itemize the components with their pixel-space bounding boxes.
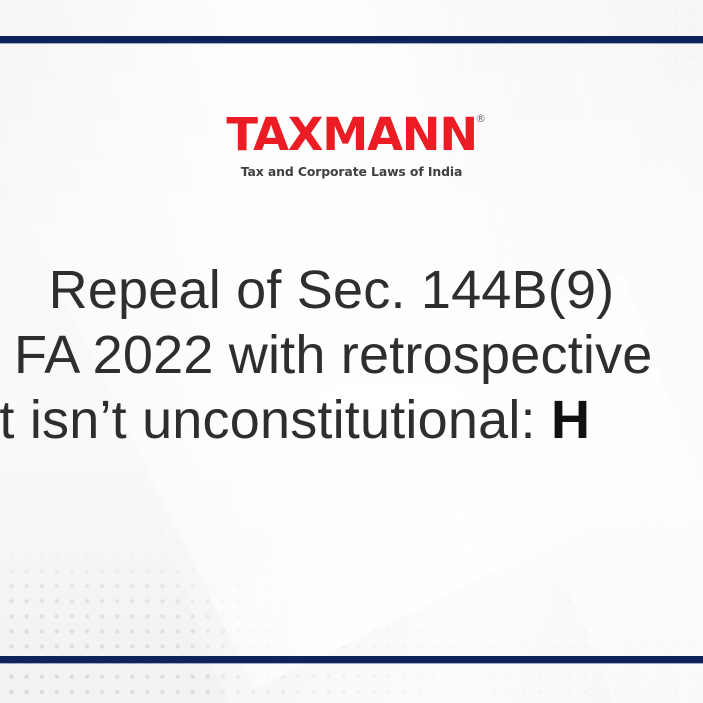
headline-line-1: Repeal of Sec. 144B(9): [0, 258, 703, 323]
logo-tagline: Tax and Corporate Laws of India: [0, 166, 703, 178]
logo-wordmark: TAXMANN: [226, 112, 477, 157]
logo-wordmark-wrap: TAXMANN ®: [230, 112, 473, 157]
registered-trademark-icon: ®: [475, 113, 486, 124]
top-divider-rule: [0, 36, 703, 43]
headline-line-3-emphasis: H: [551, 390, 590, 450]
brand-logo: TAXMANN ® Tax and Corporate Laws of Indi…: [0, 112, 703, 178]
headline-line-3-text: ect isn’t unconstitutional:: [0, 390, 551, 450]
headline-block: Repeal of Sec. 144B(9) FA 2022 with retr…: [0, 258, 703, 453]
bottom-divider-rule: [0, 656, 703, 663]
headline-line-2: FA 2022 with retrospective: [0, 323, 703, 388]
headline-line-3: ect isn’t unconstitutional: H: [0, 388, 703, 453]
social-card: TAXMANN ® Tax and Corporate Laws of Indi…: [0, 0, 703, 703]
